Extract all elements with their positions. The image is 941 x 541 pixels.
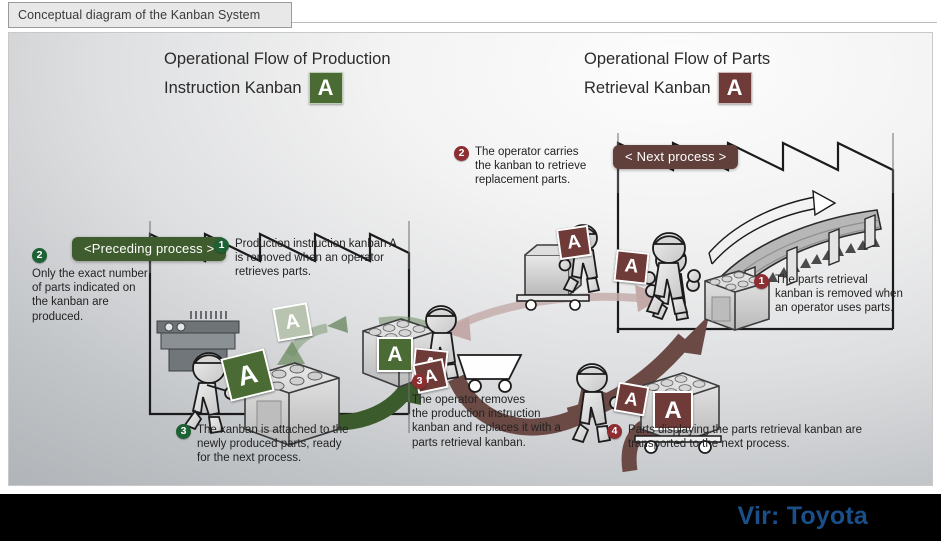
caption-tab[interactable]: Conceptual diagram of the Kanban System bbox=[8, 2, 292, 28]
right-flow-heading-line1: Operational Flow of Parts bbox=[584, 47, 770, 72]
kanban-card-midright: A bbox=[613, 249, 649, 284]
right-worker bbox=[643, 233, 700, 314]
note-right-1-number: 1 bbox=[754, 274, 769, 289]
caption-tab-label: Conceptual diagram of the Kanban System bbox=[18, 8, 260, 22]
kanban-chip-maroon: A bbox=[718, 72, 752, 104]
caption-bar: Conceptual diagram of the Kanban System bbox=[0, 0, 941, 30]
mid-worker-right bbox=[646, 246, 699, 320]
kanban-card-worker-left: A bbox=[220, 348, 274, 402]
kanban-card-handcart: A bbox=[556, 225, 592, 260]
note-mid-2-number: 2 bbox=[454, 146, 469, 161]
note-mid-2: 2 The operator carries the kanban to ret… bbox=[454, 145, 599, 188]
kanban-card-onbox-left: A bbox=[377, 337, 413, 372]
right-flow-heading-line2: Retrieval Kanban bbox=[584, 76, 711, 101]
right-flow-heading: Operational Flow of Parts Retrieval Kanb… bbox=[584, 47, 770, 104]
note-left-2: 2 Only the exact number of parts indicat… bbox=[32, 247, 157, 324]
note-left-1-number: 1 bbox=[214, 238, 229, 253]
note-mid-2-text: The operator carries the kanban to retri… bbox=[475, 145, 586, 188]
note-left-3: 3 The kanban is attached to the newly pr… bbox=[176, 423, 381, 466]
screenshot-root: Conceptual diagram of the Kanban System bbox=[0, 0, 941, 541]
note-left-1-text: Production instruction kanban A is remov… bbox=[235, 237, 397, 280]
left-flow-heading: Operational Flow of Production Instructi… bbox=[164, 47, 391, 104]
note-right-1-text: The parts retrieval kanban is removed wh… bbox=[775, 273, 903, 316]
next-process-badge: < Next process > bbox=[613, 145, 738, 169]
note-mid-3-number: 3 bbox=[412, 374, 427, 389]
footer-bar: Vir: Toyota bbox=[0, 494, 941, 541]
left-flow-heading-line2: Instruction Kanban bbox=[164, 76, 302, 101]
note-left-3-text: The kanban is attached to the newly prod… bbox=[197, 423, 349, 466]
caption-rule bbox=[292, 22, 937, 23]
note-right-4-number: 4 bbox=[607, 424, 622, 439]
note-left-2-number: 2 bbox=[32, 248, 47, 263]
source-credit: Vir: Toyota bbox=[738, 502, 868, 531]
note-mid-3: 3 The operator removes the production in… bbox=[412, 373, 562, 450]
note-right-4: 4 Parts displaying the parts retrieval k… bbox=[607, 423, 897, 451]
kanban-chip-green: A bbox=[309, 72, 343, 104]
note-left-2-text: Only the exact number of parts indicated… bbox=[32, 267, 157, 324]
note-right-1: 1 The parts retrieval kanban is removed … bbox=[754, 273, 904, 316]
kanban-diagram: A A A A A A A A A Operational Flow of Pr… bbox=[8, 32, 933, 486]
kanban-card-ghost-left: A bbox=[272, 302, 312, 342]
left-flow-heading-line1: Operational Flow of Production bbox=[164, 47, 391, 72]
note-left-3-number: 3 bbox=[176, 424, 191, 439]
note-mid-3-text: The operator removes the production inst… bbox=[412, 393, 562, 450]
kanban-card-bottom-worker: A bbox=[614, 382, 650, 417]
note-right-4-text: Parts displaying the parts retrieval kan… bbox=[628, 423, 862, 451]
note-left-1: 1 Production instruction kanban A is rem… bbox=[214, 237, 404, 280]
